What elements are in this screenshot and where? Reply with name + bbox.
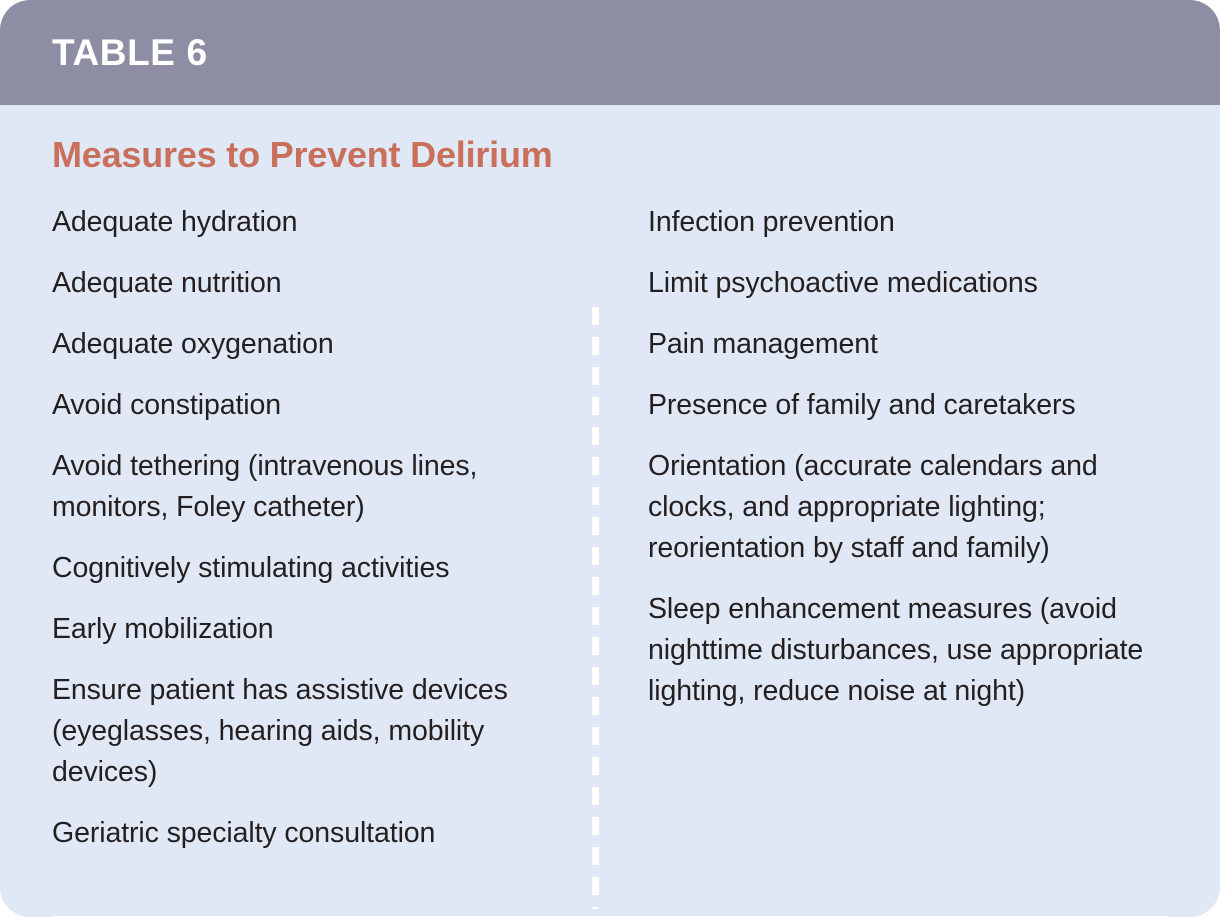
list-item: Ensure patient has assistive devices (ey… <box>52 670 572 793</box>
list-item: Geriatric specialty consultation <box>52 813 572 854</box>
column-divider <box>592 307 599 909</box>
list-item: Infection prevention <box>648 202 1178 243</box>
list-item: Adequate hydration <box>52 202 572 243</box>
list-item: Adequate nutrition <box>52 263 572 304</box>
table-card: TABLE 6 Measures to Prevent Delirium Ade… <box>0 0 1220 917</box>
list-item: Orientation (accurate calendars and cloc… <box>648 446 1178 569</box>
table-number-label: TABLE 6 <box>52 31 208 75</box>
list-item: Pain management <box>648 324 1178 365</box>
list-item: Sleep enhancement measures (avoid nightt… <box>648 589 1178 712</box>
table-title: Measures to Prevent Delirium <box>52 132 553 178</box>
list-item: Avoid tethering (intravenous lines, moni… <box>52 446 572 528</box>
list-item: Early mobilization <box>52 609 572 650</box>
list-item: Cognitively stimulating activities <box>52 548 572 589</box>
measures-column-right: Infection prevention Limit psychoactive … <box>648 202 1178 712</box>
table-body: Measures to Prevent Delirium Adequate hy… <box>0 105 1220 917</box>
measures-columns: Adequate hydration Adequate nutrition Ad… <box>0 202 1220 807</box>
list-item: Limit psychoactive medications <box>648 263 1178 304</box>
list-item: Avoid constipation <box>52 385 572 426</box>
list-item: Presence of family and caretakers <box>648 385 1178 426</box>
measures-column-left: Adequate hydration Adequate nutrition Ad… <box>52 202 572 854</box>
list-item: Adequate oxygenation <box>52 324 572 365</box>
table-header-bar: TABLE 6 <box>0 0 1220 105</box>
